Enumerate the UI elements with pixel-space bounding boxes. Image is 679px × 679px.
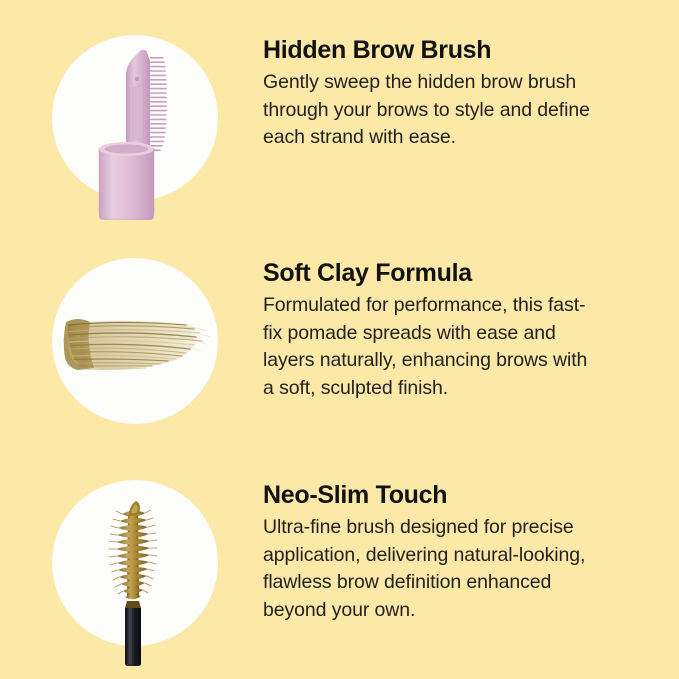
feature-description: Ultra-fine brush designed for precise ap… [263, 514, 603, 624]
feature-title: Soft Clay Formula [263, 258, 639, 288]
hidden-brow-comb-brush-image [52, 35, 218, 215]
feature-row: Neo-Slim Touch Ultra-fine brush designed… [0, 480, 679, 660]
feature-description: Gently sweep the hidden brow brush throu… [263, 69, 603, 152]
feature-text-block: Hidden Brow Brush Gently sweep the hidde… [263, 35, 679, 152]
feature-title: Hidden Brow Brush [263, 35, 639, 65]
feature-media-hidden-brow-brush [0, 35, 263, 215]
product-features-infographic: Hidden Brow Brush Gently sweep the hidde… [0, 0, 679, 679]
feature-row: Hidden Brow Brush Gently sweep the hidde… [0, 35, 679, 215]
feature-text-block: Soft Clay Formula Formulated for perform… [263, 258, 679, 402]
neo-slim-spoolie-brush-image [52, 480, 218, 660]
feature-description: Formulated for performance, this fast-fi… [263, 292, 603, 402]
feature-media-neo-slim-touch [0, 480, 263, 660]
feature-title: Neo-Slim Touch [263, 480, 639, 510]
feature-row: Soft Clay Formula Formulated for perform… [0, 258, 679, 438]
feature-media-soft-clay-formula [0, 258, 263, 438]
feature-text-block: Neo-Slim Touch Ultra-fine brush designed… [263, 480, 679, 624]
soft-clay-pomade-swatch-image [52, 258, 218, 438]
